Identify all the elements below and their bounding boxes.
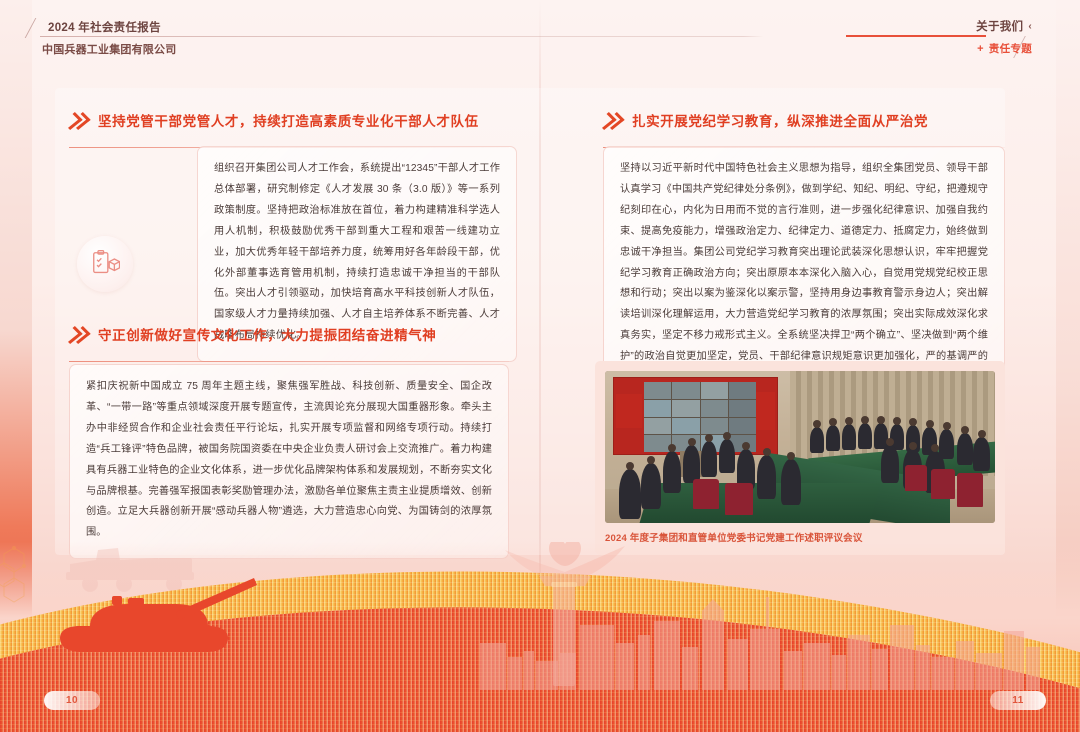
plus-icon: +: [977, 43, 984, 55]
section-heading-talent: 坚持党管干部党管人才，持续打造高素质专业化干部人才队伍: [67, 110, 517, 130]
chevron-left-icon: ‹: [1028, 21, 1032, 32]
page-root: 2024 年社会责任报告 中国兵器工业集团有限公司 关于我们 ‹ + 责任专题 …: [0, 0, 1080, 732]
nav-about-us[interactable]: 关于我们 ‹: [976, 18, 1032, 34]
section-heading-discipline: 扎实开展党纪学习教育，纵深推进全面从严治党: [601, 110, 1011, 130]
city-skyline-silhouette: [480, 595, 1040, 690]
section-title-culture: 守正创新做好宣传文化工作，大力提振团结奋进精气神: [98, 324, 436, 344]
section-divider-culture: [69, 361, 509, 362]
report-title: 2024 年社会责任报告: [48, 19, 161, 35]
page-number-left: 10: [44, 691, 100, 710]
double-chevron-right-icon: [601, 111, 623, 129]
content-card: 坚持党管干部党管人才，持续打造高素质专业化干部人才队伍 组织召开集团公司人才工作…: [55, 88, 1005, 555]
section-heading-culture: 守正创新做好宣传文化工作，大力提振团结奋进精气神: [67, 324, 517, 344]
tank-silhouette: [58, 576, 258, 666]
paragraph-talent: 组织召开集团公司人才工作会，系统提出“12345”干部人才工作总体部署，研究制修…: [214, 159, 500, 347]
paragraph-box-culture: 紧扣庆祝新中国成立 75 周年主题主线，聚焦强军胜战、科技创新、质量安全、国企改…: [69, 364, 509, 559]
nav-responsibility-topic-label: 责任专题: [989, 41, 1032, 56]
conference-photo-card: 2024 年度子集团和直管单位党委书记党建工作述职评议会议: [595, 361, 1005, 555]
right-column: 扎实开展党纪学习教育，纵深推进全面从严治党 坚持以习近平新时代中国特色社会主义思…: [595, 88, 1005, 555]
company-name: 中国兵器工业集团有限公司: [42, 41, 176, 57]
header-accent-bar: [846, 35, 986, 37]
left-column: 坚持党管干部党管人才，持续打造高素质专业化干部人才队伍 组织召开集团公司人才工作…: [55, 88, 523, 555]
section-title-talent: 坚持党管干部党管人才，持续打造高素质专业化干部人才队伍: [98, 110, 479, 130]
paragraph-culture: 紧扣庆祝新中国成立 75 周年主题主线，聚焦强军胜战、科技创新、质量安全、国企改…: [86, 377, 492, 544]
photo-chairs: [605, 371, 995, 523]
page-header: 2024 年社会责任报告 中国兵器工业集团有限公司 关于我们 ‹ + 责任专题: [0, 0, 1080, 62]
section-title-discipline: 扎实开展党纪学习教育，纵深推进全面从严治党: [632, 110, 928, 130]
double-chevron-right-icon: [67, 325, 89, 343]
nav-about-us-label: 关于我们: [976, 18, 1023, 34]
page-number-right: 11: [990, 691, 1046, 710]
footer-decoration: 10 11: [0, 542, 1080, 732]
nav-responsibility-topic[interactable]: + 责任专题: [977, 41, 1032, 56]
conference-photo: [605, 371, 995, 523]
clipboard-cube-icon: [77, 236, 133, 292]
double-chevron-right-icon: [67, 111, 89, 129]
